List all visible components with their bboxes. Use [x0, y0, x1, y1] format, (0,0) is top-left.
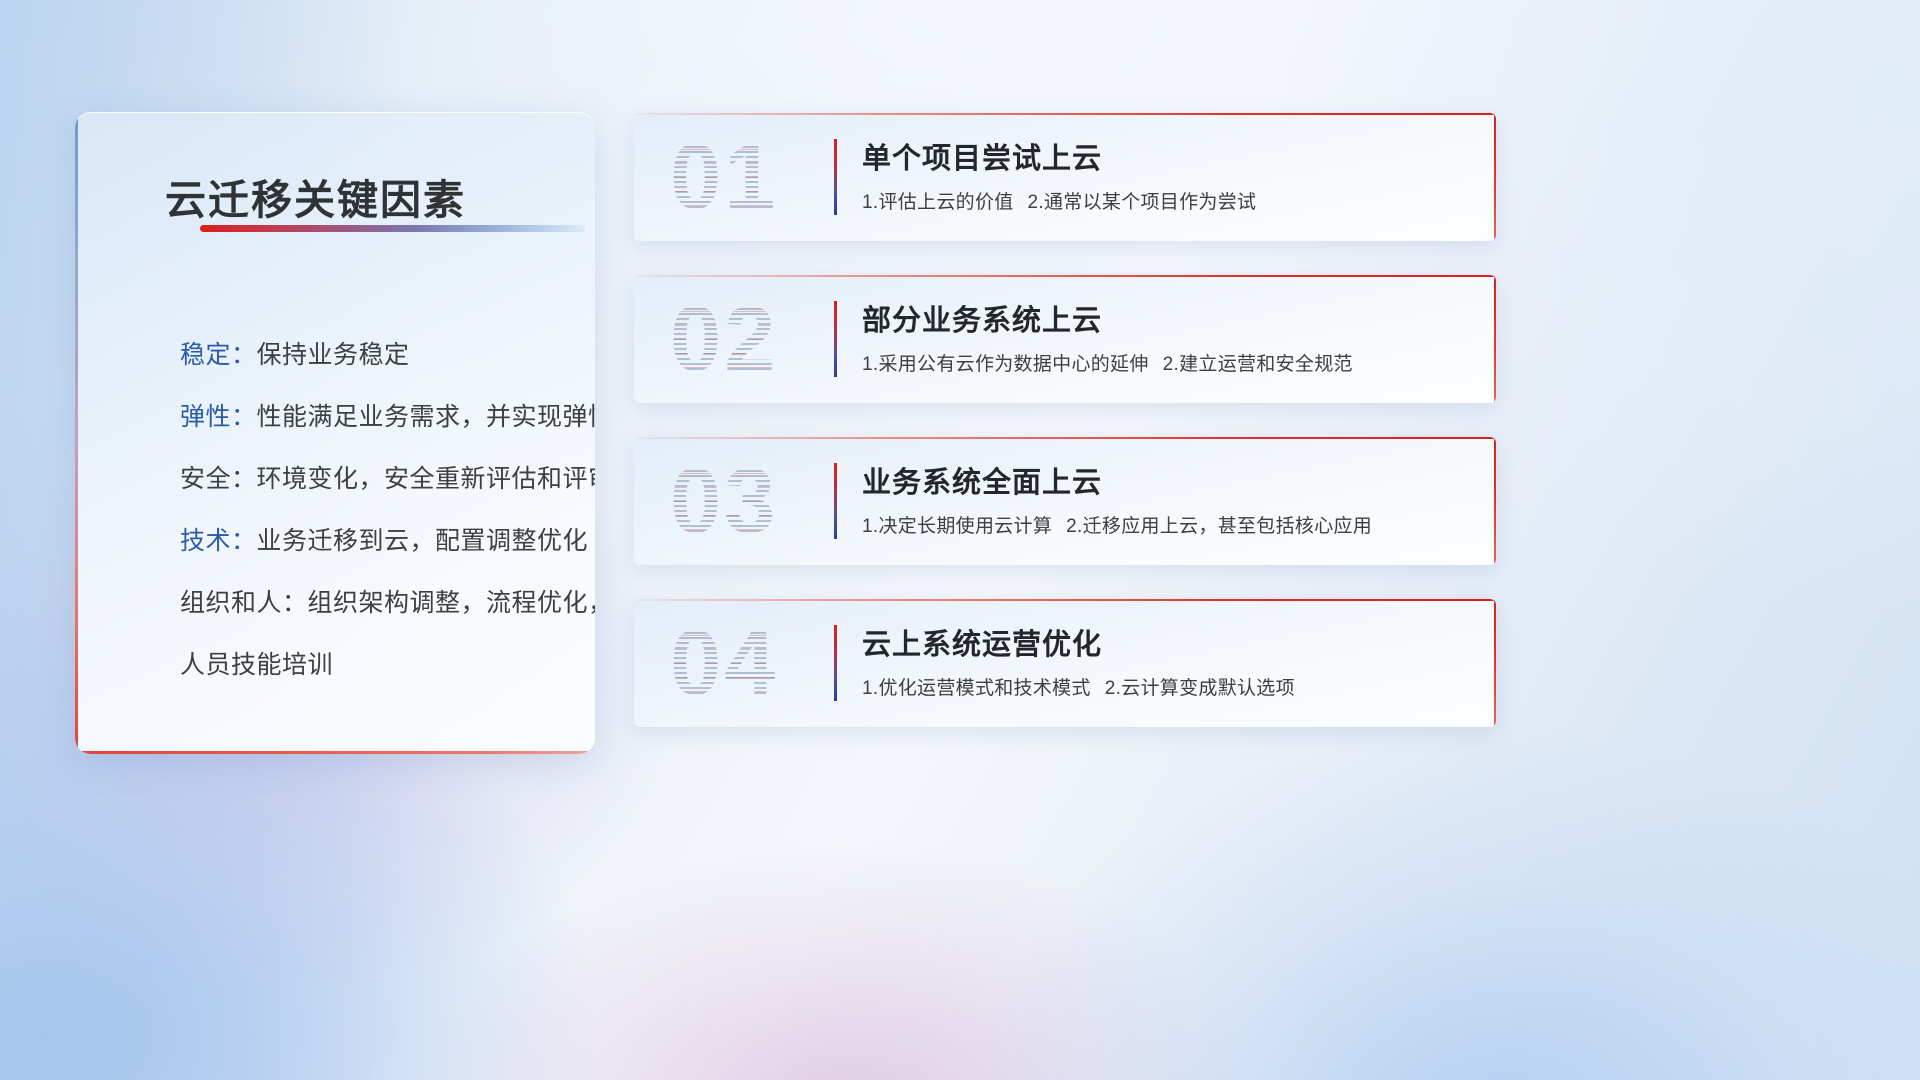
factor-text: 业务迁移到云，配置调整优化	[257, 527, 589, 555]
factor-label: 技术：	[180, 527, 257, 555]
step-title: 云上系统运营优化	[862, 621, 1102, 663]
title-underline-rule	[200, 225, 585, 232]
factor-text: 性能满足业务需求，并实现弹性	[257, 403, 595, 431]
factor-row: 弹性：性能满足业务需求，并实现弹性	[180, 386, 571, 448]
factor-text: 环境变化，安全重新评估和评审	[257, 465, 595, 493]
page-title: 云迁移关键因素	[165, 166, 466, 226]
step-number-ghost: 04	[670, 607, 778, 719]
step-point-2: 2.建立运营和安全规范	[1163, 354, 1353, 375]
factor-text: 组织架构调整，流程优化，	[308, 589, 595, 617]
step-number-ghost: 03	[670, 445, 778, 557]
factor-label: 安全：	[180, 465, 257, 493]
step-title: 单个项目尝试上云	[862, 135, 1102, 177]
step-description: 1.优化运营模式和技术模式2.云计算变成默认选项	[862, 673, 1295, 700]
step-point-1: 1.采用公有云作为数据中心的延伸	[862, 354, 1149, 375]
step-card[interactable]: 02 02 部分业务系统上云 1.采用公有云作为数据中心的延伸2.建立运营和安全…	[634, 275, 1496, 403]
step-accent-bar	[834, 463, 837, 539]
factor-row: 技术：业务迁移到云，配置调整优化	[180, 510, 571, 572]
step-title: 部分业务系统上云	[862, 297, 1102, 339]
factor-text: 保持业务稳定	[257, 341, 410, 369]
step-accent-bar	[834, 139, 837, 215]
step-point-1: 1.决定长期使用云计算	[862, 516, 1052, 537]
step-number-ghost: 01	[670, 121, 778, 233]
step-description: 1.决定长期使用云计算2.迁移应用上云，甚至包括核心应用	[862, 511, 1372, 538]
migration-steps-list: 01 01 单个项目尝试上云 1.评估上云的价值2.通常以某个项目作为尝试 02…	[634, 113, 1496, 761]
step-point-2: 2.通常以某个项目作为尝试	[1028, 192, 1257, 213]
step-point-2: 2.云计算变成默认选项	[1105, 678, 1295, 699]
step-card[interactable]: 03 03 业务系统全面上云 1.决定长期使用云计算2.迁移应用上云，甚至包括核…	[634, 437, 1496, 565]
step-accent-bar	[834, 625, 837, 701]
factor-label: 稳定：	[180, 341, 257, 369]
factor-label: 弹性：	[180, 403, 257, 431]
factor-row: 安全：环境变化，安全重新评估和评审	[180, 448, 571, 510]
step-point-1: 1.评估上云的价值	[862, 192, 1014, 213]
factor-row: 组织和人：组织架构调整，流程优化，	[180, 572, 571, 634]
step-title: 业务系统全面上云	[862, 459, 1102, 501]
factor-row: 人员技能培训	[180, 634, 571, 696]
factor-row: 稳定：保持业务稳定	[180, 324, 571, 386]
factor-text: 人员技能培训	[180, 651, 333, 679]
step-description: 1.采用公有云作为数据中心的延伸2.建立运营和安全规范	[862, 349, 1353, 376]
step-point-2: 2.迁移应用上云，甚至包括核心应用	[1066, 516, 1372, 537]
step-card[interactable]: 04 04 云上系统运营优化 1.优化运营模式和技术模式2.云计算变成默认选项	[634, 599, 1496, 727]
step-accent-bar	[834, 301, 837, 377]
step-description: 1.评估上云的价值2.通常以某个项目作为尝试	[862, 187, 1256, 214]
step-number-ghost: 02	[670, 283, 778, 395]
step-point-1: 1.优化运营模式和技术模式	[862, 678, 1091, 699]
factor-list: 稳定：保持业务稳定 弹性：性能满足业务需求，并实现弹性 安全：环境变化，安全重新…	[180, 324, 571, 696]
key-factors-panel: 云迁移关键因素 稳定：保持业务稳定 弹性：性能满足业务需求，并实现弹性 安全：环…	[75, 112, 595, 754]
factor-label: 组织和人：	[180, 589, 308, 617]
step-card[interactable]: 01 01 单个项目尝试上云 1.评估上云的价值2.通常以某个项目作为尝试	[634, 113, 1496, 241]
